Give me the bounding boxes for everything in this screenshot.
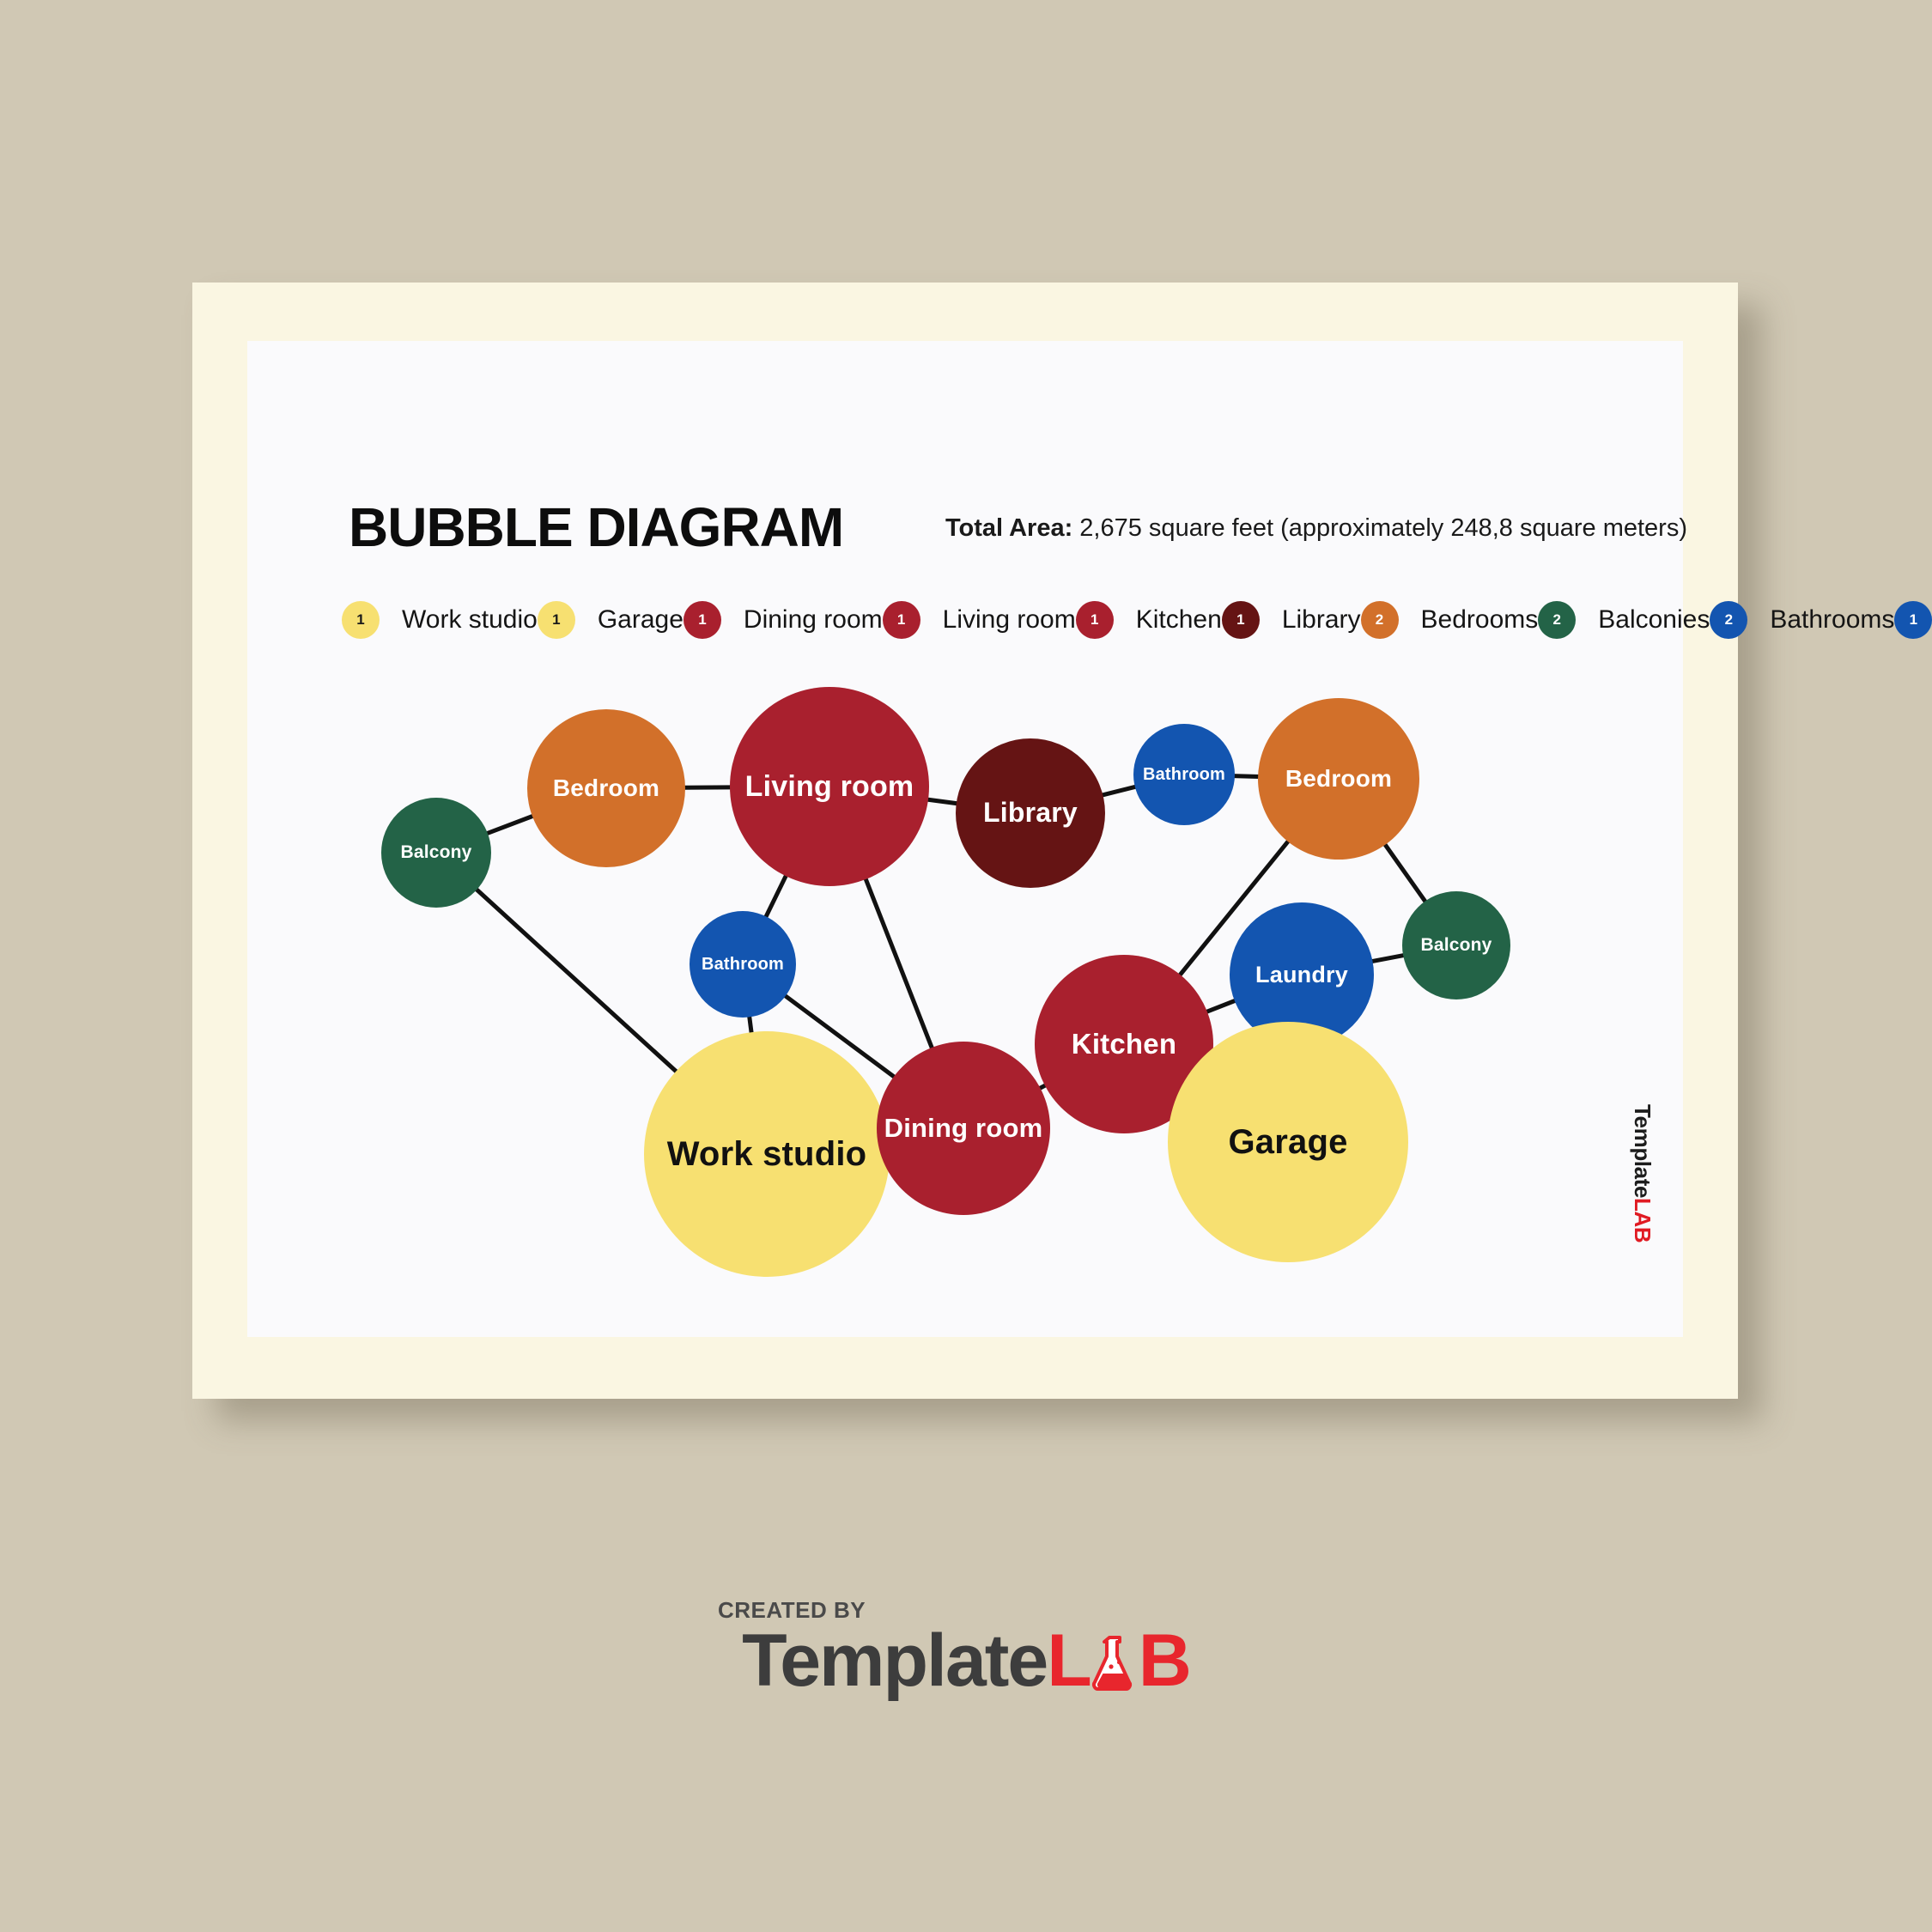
connector-line xyxy=(750,1016,752,1035)
bubble-node[interactable]: Living room xyxy=(730,687,929,886)
flask-icon xyxy=(1091,1624,1139,1680)
bubble-node[interactable]: Bathroom xyxy=(1133,724,1235,825)
footer-logo: CREATED BY Template L B xyxy=(0,1597,1932,1704)
bubble-node[interactable]: Bedroom xyxy=(527,709,685,867)
bubble-label: Balcony xyxy=(393,842,478,863)
legend-item: 1Garage xyxy=(538,592,683,648)
watermark-template: Template xyxy=(1630,1104,1656,1198)
bubble-node[interactable]: Balcony xyxy=(1402,891,1510,999)
legend-item: 1Kitchen xyxy=(1076,592,1222,648)
legend-count-badge: 2 xyxy=(1538,601,1576,639)
bubble-label: Bedroom xyxy=(546,775,666,801)
legend-label: Bedrooms xyxy=(1421,605,1539,635)
bubble-label: Garage xyxy=(1221,1123,1354,1162)
legend-count-badge: 1 xyxy=(1894,601,1932,639)
bubble-label: Bedroom xyxy=(1279,765,1399,792)
bubble-field: BalconyBedroomLiving roomLibraryBathroom… xyxy=(247,710,1683,1337)
connector-line xyxy=(765,874,787,918)
legend-item: 1Library xyxy=(1222,592,1361,648)
total-area-text: Total Area: 2,675 square feet (approxima… xyxy=(945,514,1687,543)
logo-letter-l: L xyxy=(1047,1619,1091,1704)
legend-item: 1Laundry xyxy=(1894,592,1932,648)
connector-line xyxy=(866,878,933,1049)
connector-line xyxy=(1384,843,1426,902)
watermark-lab: LAB xyxy=(1630,1198,1656,1242)
poster-frame: BUBBLE DIAGRAM Total Area: 2,675 square … xyxy=(192,283,1738,1399)
connector-line xyxy=(1206,1000,1236,1012)
connector-line xyxy=(1233,776,1260,777)
bubble-node[interactable]: Garage xyxy=(1168,1022,1408,1262)
bubble-label: Laundry xyxy=(1249,962,1355,987)
bubble-node[interactable]: Balcony xyxy=(381,798,491,908)
legend-label: Bathrooms xyxy=(1770,605,1894,635)
bubble-node[interactable]: Bedroom xyxy=(1258,698,1419,860)
logo-letter-b: B xyxy=(1139,1619,1190,1704)
legend-item: 2Bathrooms xyxy=(1710,592,1894,648)
connector-line xyxy=(1101,787,1136,795)
bubble-label: Living room xyxy=(738,770,921,803)
connector-line xyxy=(476,889,677,1072)
bubble-node[interactable]: Work studio xyxy=(644,1031,890,1277)
legend-label: Balconies xyxy=(1598,605,1710,635)
total-area-value: 2,675 square feet (approximately 248,8 s… xyxy=(1072,514,1687,542)
bubble-node[interactable]: Dining room xyxy=(877,1042,1050,1215)
legend-label: Garage xyxy=(598,605,683,635)
legend-count-badge: 2 xyxy=(1710,601,1747,639)
legend-item: 2Bedrooms xyxy=(1361,592,1539,648)
bubble-label: Dining room xyxy=(878,1114,1050,1144)
templatelab-watermark: TemplateLAB xyxy=(1631,1104,1654,1242)
legend-count-badge: 2 xyxy=(1361,601,1399,639)
legend-label: Kitchen xyxy=(1136,605,1222,635)
bubble-node[interactable]: Bathroom xyxy=(690,911,796,1018)
legend-count-badge: 1 xyxy=(538,601,575,639)
bubble-label: Work studio xyxy=(660,1135,874,1174)
connector-line xyxy=(927,799,958,804)
legend-count-badge: 1 xyxy=(883,601,920,639)
diagram-canvas: BUBBLE DIAGRAM Total Area: 2,675 square … xyxy=(247,341,1683,1337)
bubble-node[interactable]: Library xyxy=(956,738,1105,888)
legend-item: 1Living room xyxy=(883,592,1076,648)
legend-label: Dining room xyxy=(744,605,883,635)
legend-item: 1Work studio xyxy=(342,592,538,648)
page-title: BUBBLE DIAGRAM xyxy=(349,495,843,559)
legend-count-badge: 1 xyxy=(683,601,721,639)
legend-label: Library xyxy=(1282,605,1361,635)
legend-count-badge: 1 xyxy=(342,601,380,639)
legend-count-badge: 1 xyxy=(1222,601,1260,639)
logo-template-text: Template xyxy=(742,1619,1047,1704)
legend-count-badge: 1 xyxy=(1076,601,1114,639)
bubble-label: Bathroom xyxy=(695,955,791,974)
logo-lab-text: L B xyxy=(1047,1619,1190,1704)
legend-item: 1Dining room xyxy=(683,592,883,648)
total-area-label: Total Area: xyxy=(945,514,1072,542)
legend: 1Work studio1Garage1Dining room1Living r… xyxy=(342,592,1647,648)
legend-label: Living room xyxy=(943,605,1076,635)
connector-line xyxy=(486,816,534,834)
legend-label: Work studio xyxy=(402,605,538,635)
legend-item: 2Balconies xyxy=(1538,592,1710,648)
bubble-label: Kitchen xyxy=(1065,1029,1183,1060)
bubble-label: Bathroom xyxy=(1136,765,1232,784)
bubble-label: Balcony xyxy=(1413,935,1498,956)
connector-line xyxy=(1371,955,1405,961)
templatelab-logo: Template L B xyxy=(742,1619,1190,1704)
bubble-label: Library xyxy=(976,798,1084,829)
